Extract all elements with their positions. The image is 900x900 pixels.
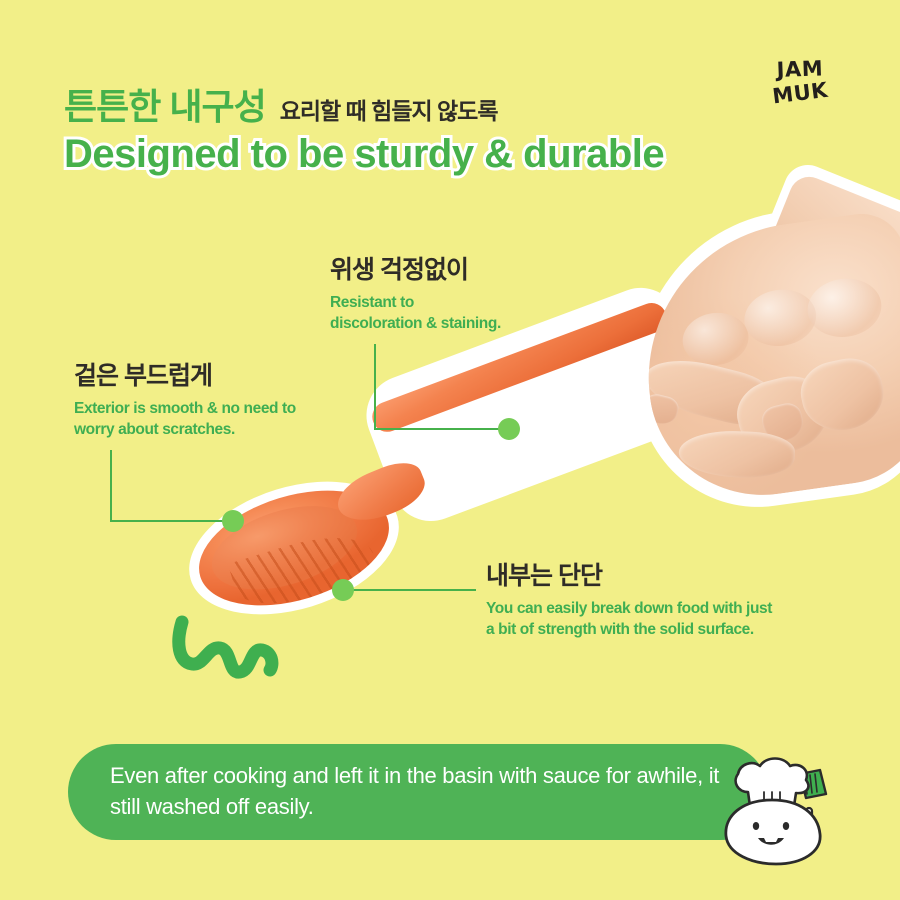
mascot-body bbox=[726, 800, 820, 864]
bottom-banner: Even after cooking and left it in the ba… bbox=[68, 744, 768, 840]
bottom-banner-text: Even after cooking and left it in the ba… bbox=[110, 760, 730, 822]
squiggle-icon bbox=[170, 612, 290, 692]
chef-blob-mascot-icon bbox=[716, 748, 846, 868]
mascot-chef-blob bbox=[716, 748, 846, 873]
callout-hygiene-korean: 위생 걱정없이 bbox=[330, 250, 501, 286]
knuckle-shade bbox=[741, 285, 820, 350]
callout-solid-english: You can easily break down food with just… bbox=[486, 599, 772, 641]
callout-hygiene: 위생 걱정없이 Resistant to discoloration & sta… bbox=[330, 250, 501, 335]
product-infographic-poster: 튼튼한 내구성 요리할 때 힘들지 않도록 Designed to be stu… bbox=[0, 0, 900, 900]
callout-solid-korean: 내부는 단단 bbox=[486, 556, 772, 592]
mascot-eye-left bbox=[753, 822, 759, 830]
callout-hygiene-english: Resistant to discoloration & staining. bbox=[330, 293, 501, 335]
callout-exterior-english: Exterior is smooth & no need to worry ab… bbox=[74, 399, 296, 441]
mascot-eye-right bbox=[783, 822, 789, 830]
knuckle-shade bbox=[679, 309, 752, 370]
callout-solid: 내부는 단단 You can easily break down food wi… bbox=[486, 556, 772, 641]
callout-exterior: 겉은 부드럽게 Exterior is smooth & no need to … bbox=[74, 356, 296, 441]
callout-exterior-korean: 겉은 부드럽게 bbox=[74, 356, 296, 392]
knuckle-shade bbox=[804, 274, 885, 342]
squiggle-decoration bbox=[170, 612, 290, 697]
thumb bbox=[678, 429, 796, 479]
